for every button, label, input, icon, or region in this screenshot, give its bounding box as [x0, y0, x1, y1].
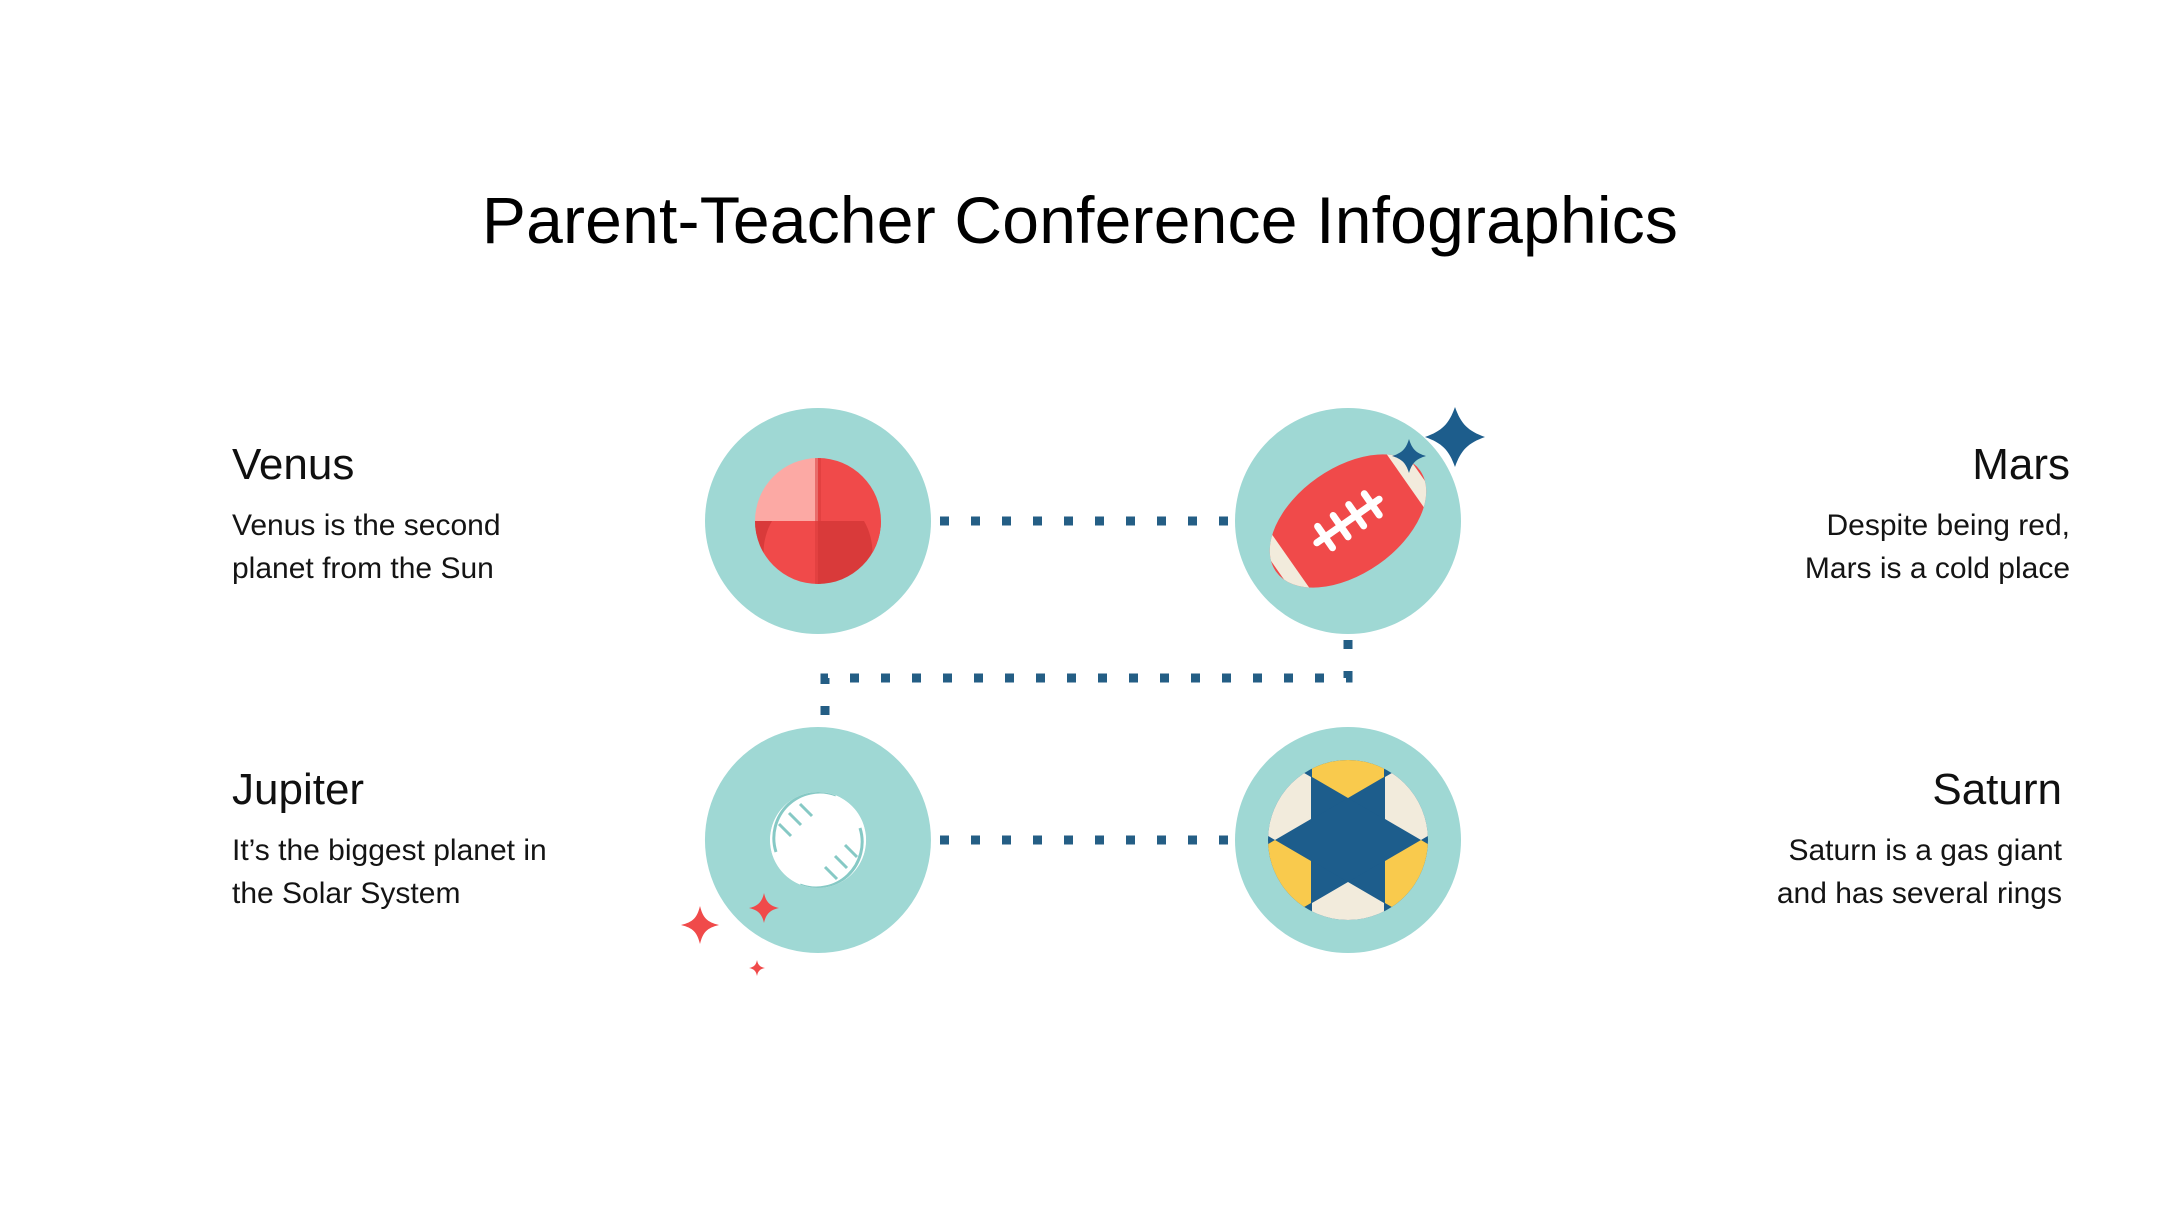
mars-title: Mars [1600, 440, 2070, 489]
connector-mars-to-jupiter[interactable] [825, 640, 1348, 722]
baseball-icon [770, 792, 866, 888]
info-block-venus: Venus Venus is the second planet from th… [232, 440, 702, 590]
jupiter-title: Jupiter [232, 765, 702, 814]
mars-description: Despite being red, Mars is a cold place [1600, 505, 2070, 590]
page-title: Parent-Teacher Conference Infographics [0, 184, 2160, 257]
info-block-mars: Mars Despite being red, Mars is a cold p… [1600, 440, 2070, 590]
saturn-title: Saturn [1592, 765, 2062, 814]
node-venus[interactable] [705, 408, 931, 634]
node-jupiter[interactable] [681, 727, 931, 976]
node-mars[interactable] [1231, 405, 1485, 643]
info-block-jupiter: Jupiter It’s the biggest planet in the S… [232, 765, 702, 915]
info-block-saturn: Saturn Saturn is a gas giant and has sev… [1592, 765, 2062, 915]
red-star-tiny-icon [749, 960, 765, 976]
venus-description: Venus is the second planet from the Sun [232, 505, 702, 590]
jupiter-description: It’s the biggest planet in the Solar Sys… [232, 830, 702, 915]
node-saturn[interactable] [1235, 714, 1461, 966]
slide-canvas: Parent-Teacher Conference Infographics V… [0, 0, 2160, 1215]
saturn-description: Saturn is a gas giant and has several ri… [1592, 830, 2062, 915]
venus-title: Venus [232, 440, 702, 489]
